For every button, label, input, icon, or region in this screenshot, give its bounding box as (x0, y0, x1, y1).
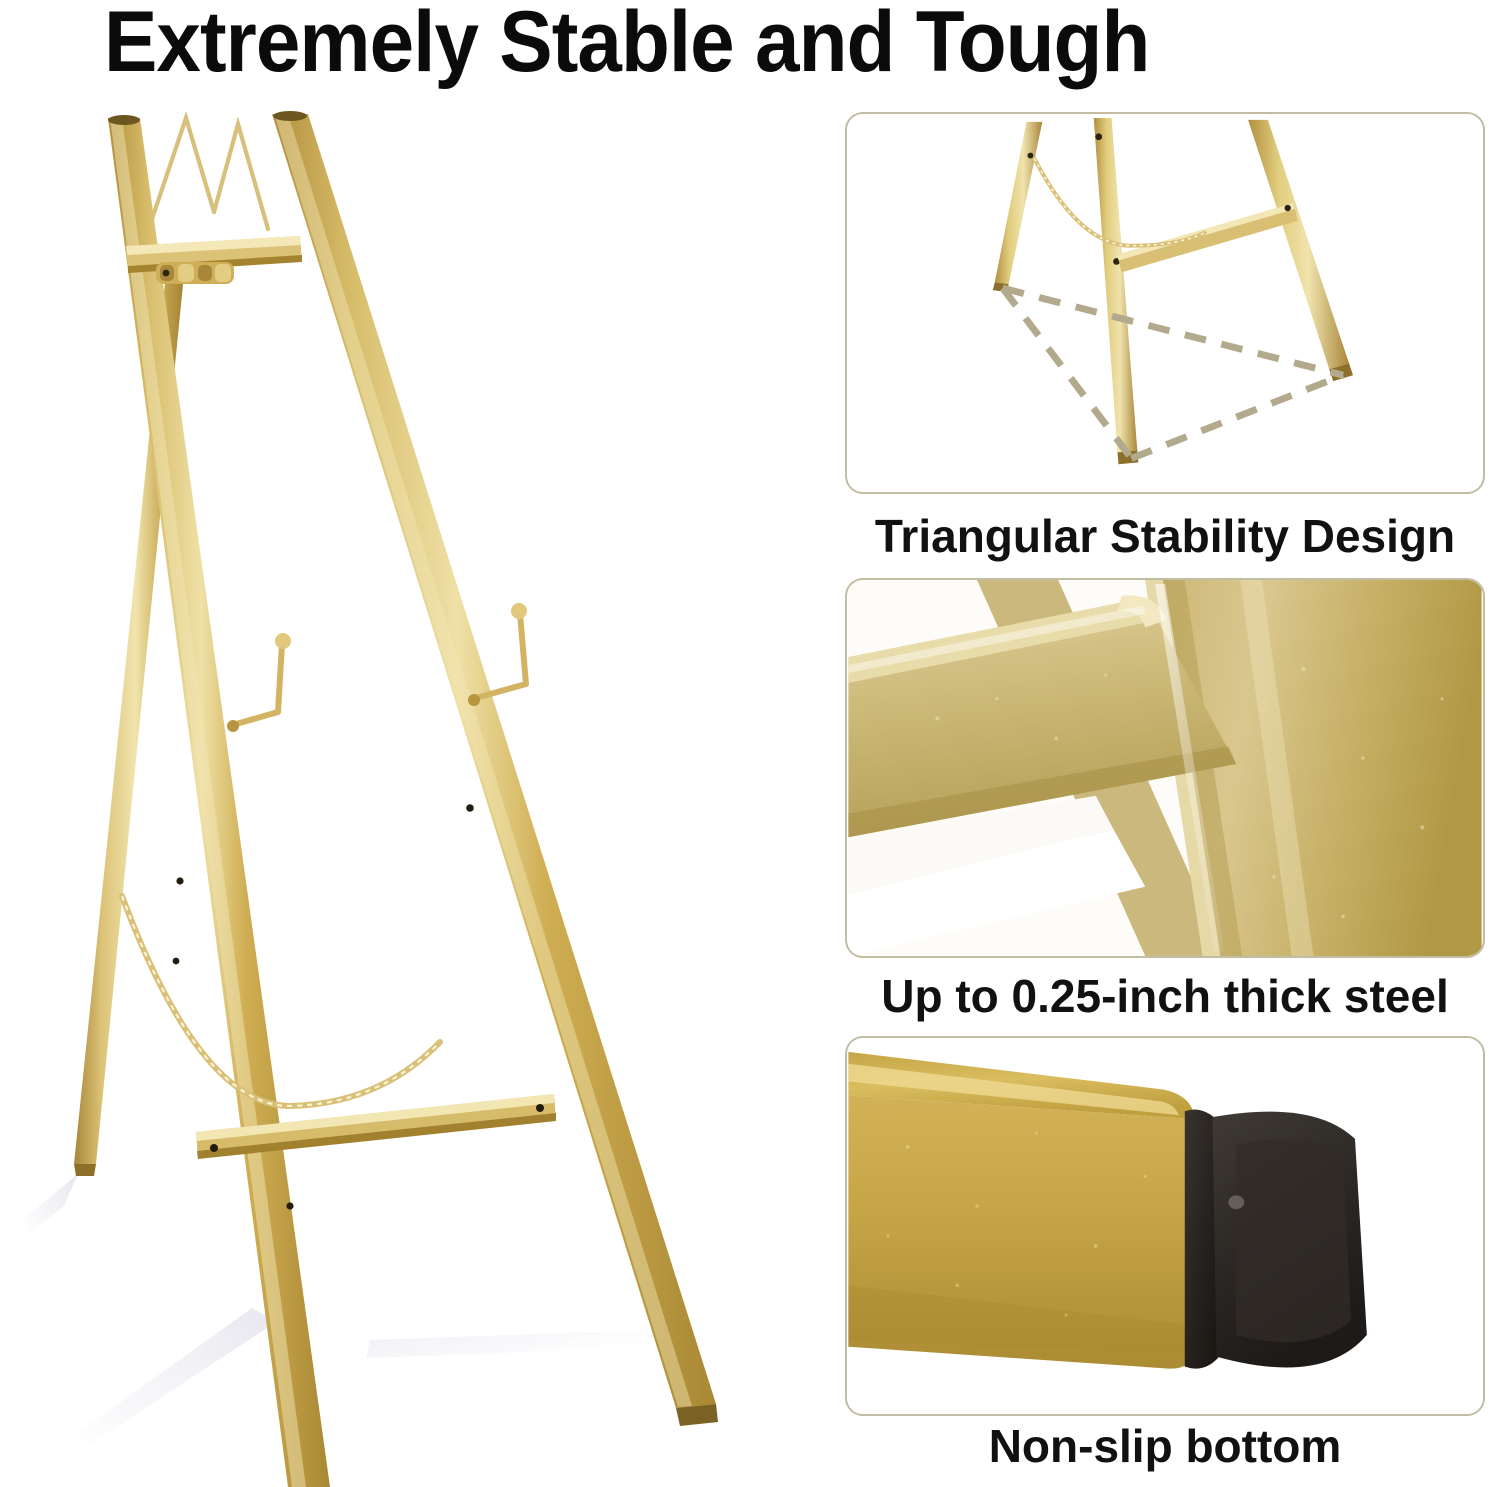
floor-shadow (2, 1174, 706, 1487)
left-hook-ball (275, 633, 291, 649)
page-title: Extremely Stable and Tough (104, 0, 1369, 90)
product-infographic-page: Extremely Stable and Tough (0, 0, 1500, 1487)
right-hook-pivot (468, 694, 480, 706)
hinge-knuckle (156, 262, 234, 284)
safety-chain (122, 896, 440, 1106)
panel-non-slip-bottom-closeup (845, 1036, 1485, 1416)
panel3-gold-tube (848, 1052, 1196, 1369)
panel-thick-steel-closeup (845, 578, 1485, 958)
left-display-hook (236, 644, 282, 724)
right-front-leg (272, 111, 718, 1426)
decorative-wire-crown (152, 118, 268, 229)
caption-non-slip-bottom: Non-slip bottom (845, 1418, 1485, 1474)
caption-thick-steel: Up to 0.25-inch thick steel (845, 968, 1485, 1024)
hero-product-image (0, 96, 820, 1487)
caption-triangular-stability-design: Triangular Stability Design (845, 508, 1485, 564)
left-hook-pivot (227, 720, 239, 732)
right-hook-ball (511, 603, 527, 619)
panel3-non-slip-cap (1185, 1109, 1367, 1368)
left-front-leg (108, 115, 330, 1487)
panel-triangular-stability-design (845, 112, 1485, 494)
